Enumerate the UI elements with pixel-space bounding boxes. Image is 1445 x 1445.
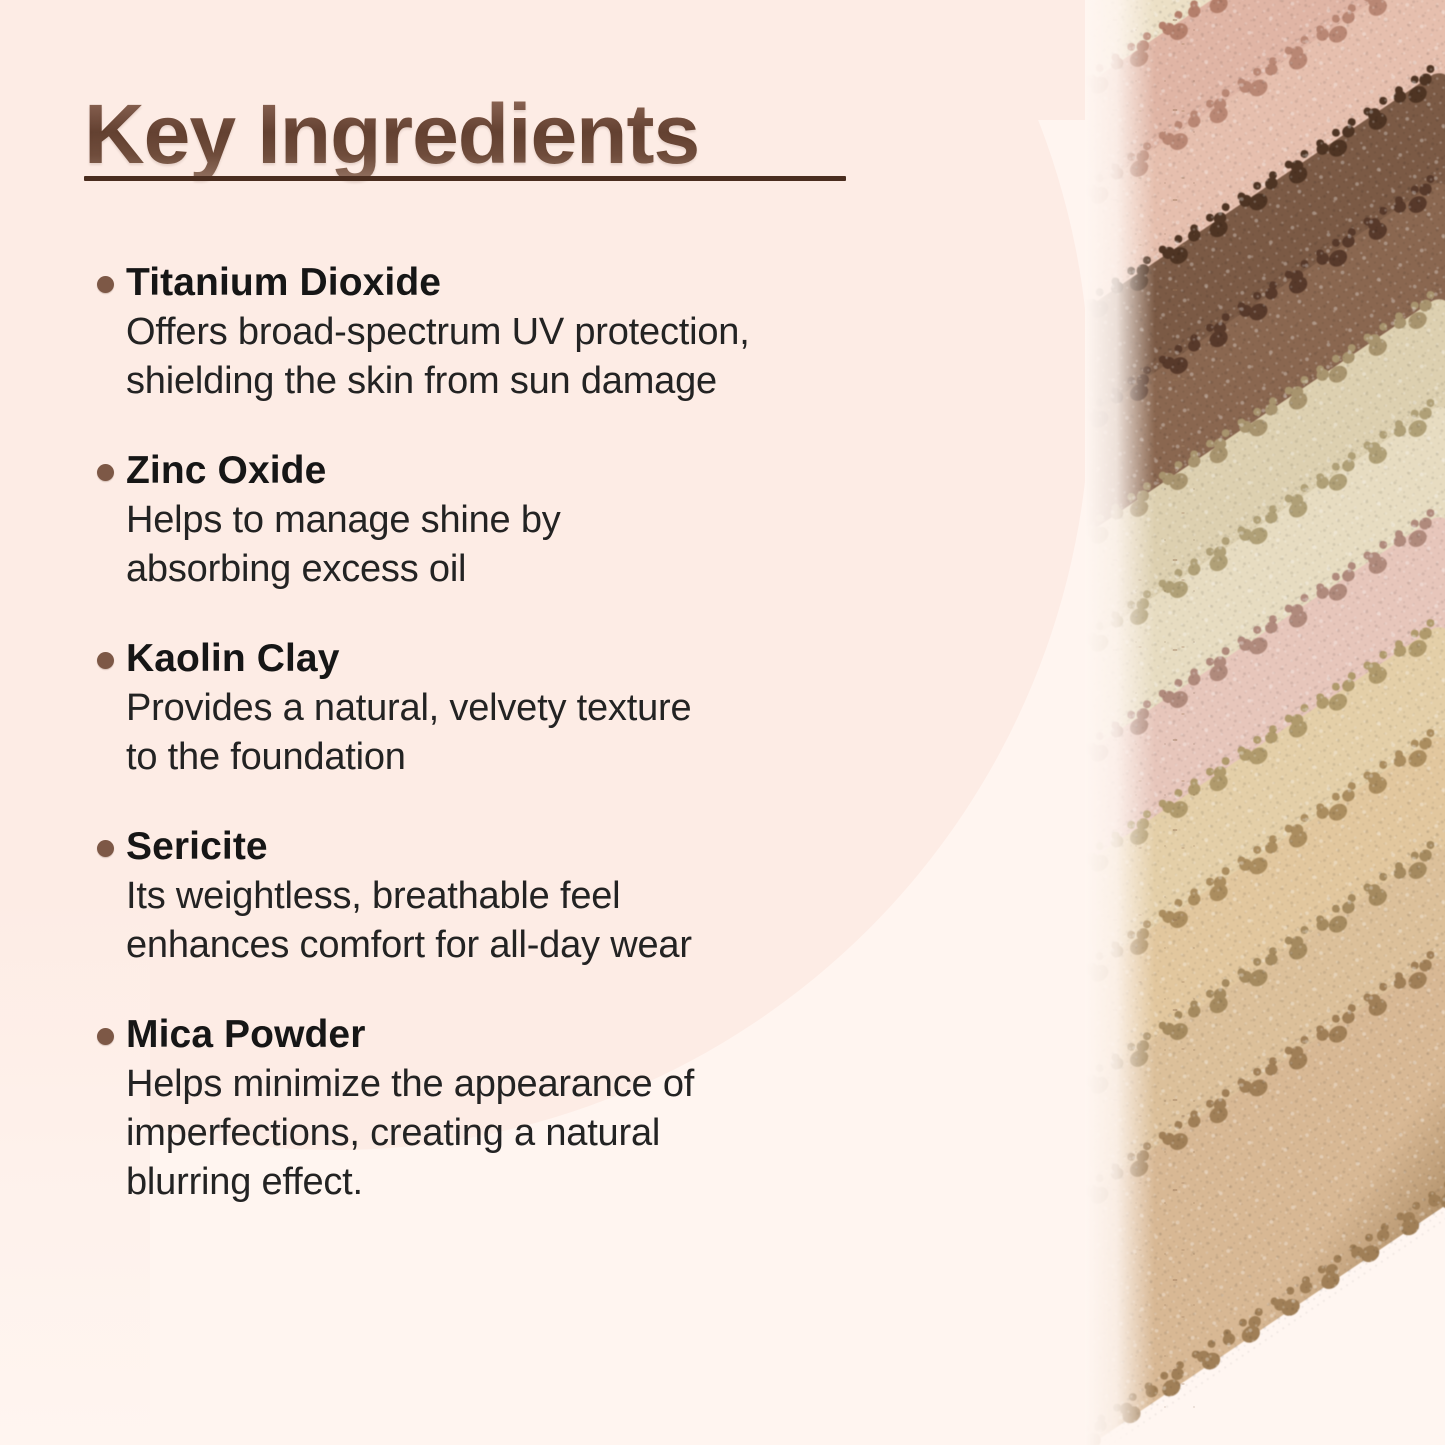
ingredient-description: Helps minimize the appearance of imperfe…	[126, 1060, 954, 1207]
bullet-dot-icon	[97, 276, 114, 293]
bullet-dot-icon	[97, 652, 114, 669]
ingredient-description: Provides a natural, velvety texture to t…	[126, 684, 954, 782]
bullet-dot-icon	[97, 1028, 114, 1045]
ingredient-name: Zinc Oxide	[126, 446, 954, 496]
ingredient-name: Mica Powder	[126, 1010, 954, 1060]
page-title-block: Key Ingredients	[84, 86, 884, 182]
page-title: Key Ingredients	[84, 86, 884, 182]
ingredient-list-item: Kaolin ClayProvides a natural, velvety t…	[84, 634, 954, 782]
ingredient-name: Titanium Dioxide	[126, 258, 954, 308]
ingredient-description: Its weightless, breathable feel enhances…	[126, 872, 954, 970]
bullet-dot-icon	[97, 464, 114, 481]
ingredient-list-item: Mica PowderHelps minimize the appearance…	[84, 1010, 954, 1207]
ingredient-list-item: SericiteIts weightless, breathable feel …	[84, 822, 954, 970]
bullet-dot-icon	[97, 840, 114, 857]
powder-dust-speckles	[1085, 0, 1205, 1445]
ingredient-description: Helps to manage shine by absorbing exces…	[126, 496, 954, 594]
ingredient-list-item: Zinc OxideHelps to manage shine by absor…	[84, 446, 954, 594]
content-column: Key Ingredients Titanium DioxideOffers b…	[0, 0, 1000, 1445]
ingredient-name: Sericite	[126, 822, 954, 872]
key-ingredients-infographic: Key Ingredients Titanium DioxideOffers b…	[0, 0, 1445, 1445]
ingredient-list-item: Titanium DioxideOffers broad-spectrum UV…	[84, 258, 954, 406]
ingredient-name: Kaolin Clay	[126, 634, 954, 684]
powder-swatch-image	[1085, 0, 1445, 1445]
title-underline	[84, 176, 846, 181]
ingredient-list: Titanium DioxideOffers broad-spectrum UV…	[84, 258, 954, 1207]
ingredient-description: Offers broad-spectrum UV protection, shi…	[126, 308, 954, 406]
